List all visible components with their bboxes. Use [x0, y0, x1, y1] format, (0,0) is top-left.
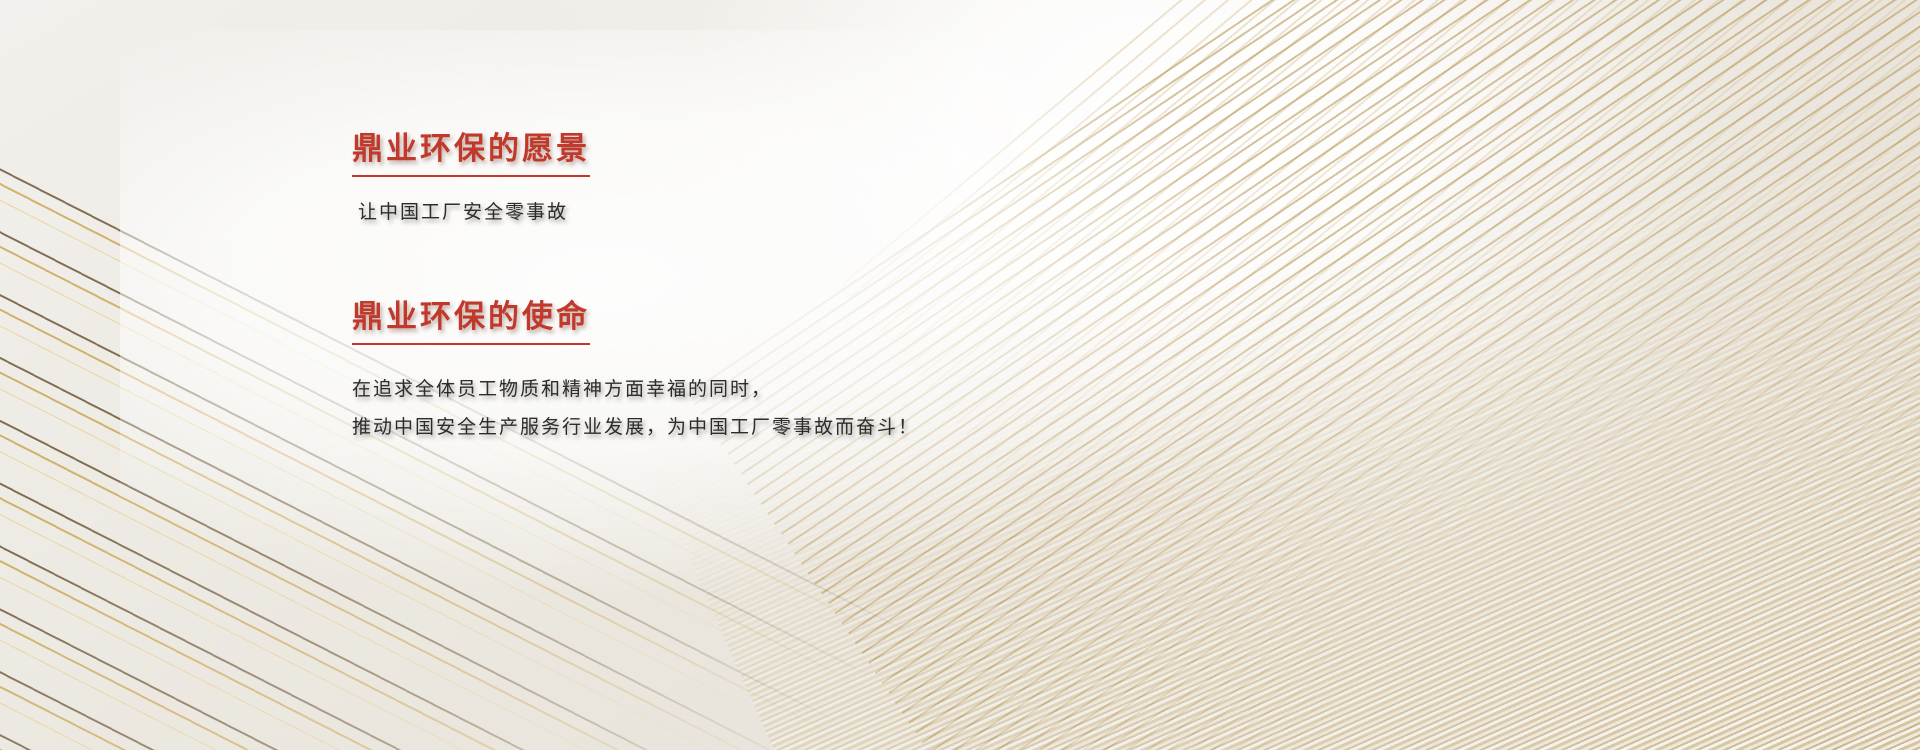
vision-heading: 鼎业环保的愿景 [352, 130, 590, 177]
mission-block: 鼎业环保的使命 在追求全体员工物质和精神方面幸福的同时， 推动中国安全生产服务行… [352, 298, 1252, 447]
mission-body: 在追求全体员工物质和精神方面幸福的同时， 推动中国安全生产服务行业发展，为中国工… [352, 371, 1252, 447]
vision-subtitle: 让中国工厂安全零事故 [358, 197, 1252, 224]
mission-heading: 鼎业环保的使命 [352, 298, 590, 345]
vision-block: 鼎业环保的愿景 让中国工厂安全零事故 [352, 130, 1252, 224]
banner-content: 鼎业环保的愿景 让中国工厂安全零事故 鼎业环保的使命 在追求全体员工物质和精神方… [352, 130, 1252, 447]
section-spacer [352, 264, 1252, 298]
mission-line-1: 在追求全体员工物质和精神方面幸福的同时， [352, 371, 1252, 409]
vision-mission-banner: 鼎业环保的愿景 让中国工厂安全零事故 鼎业环保的使命 在追求全体员工物质和精神方… [0, 0, 1920, 750]
mission-line-2: 推动中国安全生产服务行业发展，为中国工厂零事故而奋斗！ [352, 409, 1252, 447]
